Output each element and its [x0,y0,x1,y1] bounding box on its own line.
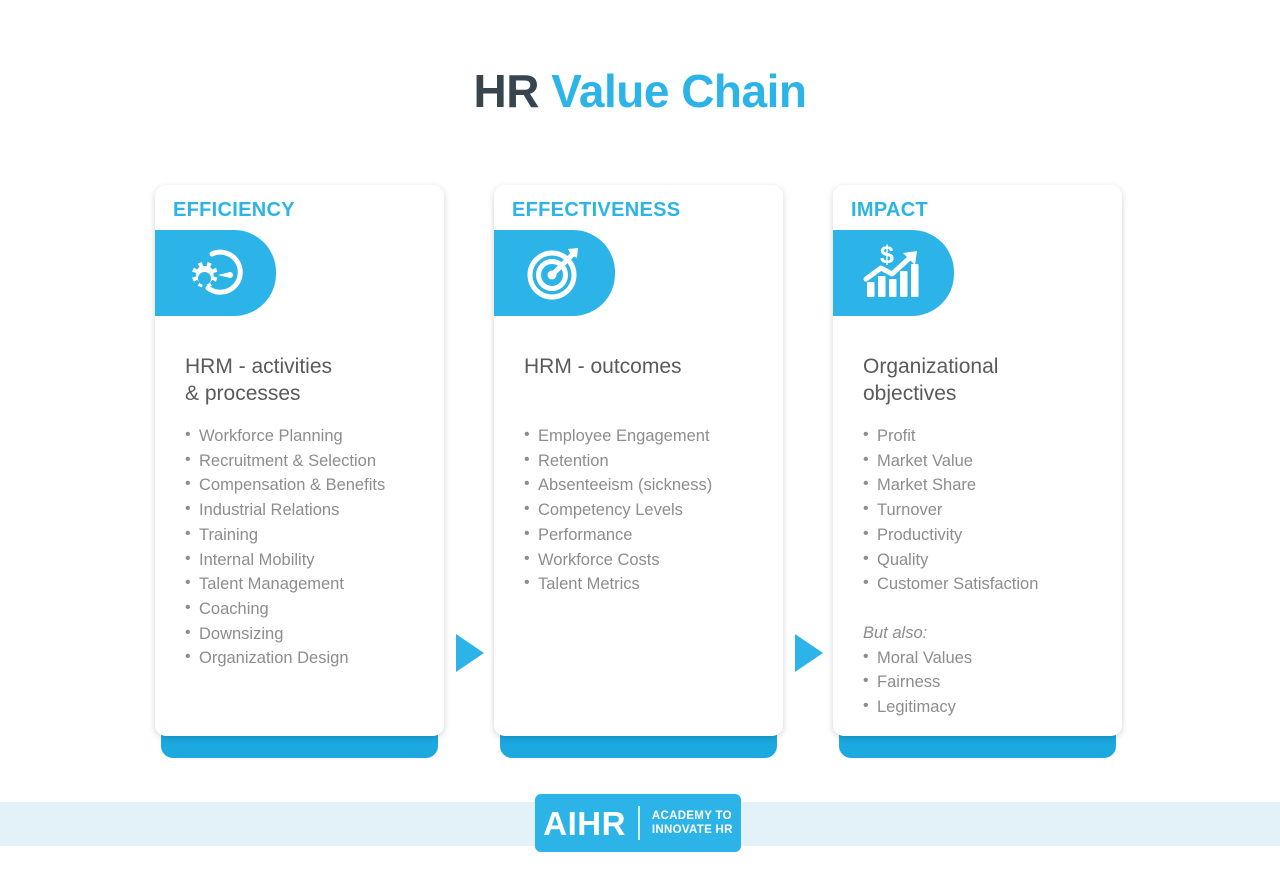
list-item: Productivity [863,523,1108,548]
card-subtitle-line-1: HRM - outcomes [524,355,682,378]
target-dart-icon [524,244,586,302]
list-item: Industrial Relations [185,498,430,523]
bullet-list: Employee Engagement Retention Absenteeis… [524,424,769,597]
value-chain-cards: EFFICIENCY HRM - activities [0,185,1280,760]
card-subtitle-line-1: Organizational [863,355,998,378]
list-item: Profit [863,424,1108,449]
card-header-label: EFFECTIVENESS [512,199,680,222]
page-title-part-2: Value Chain [551,65,806,117]
list-item: Market Share [863,473,1108,498]
list-item: Recruitment & Selection [185,449,430,474]
card-subtitle-line-1: HRM - activities [185,355,332,378]
growth-chart-dollar-icon: $ [861,244,927,302]
list-item: Turnover [863,498,1108,523]
card-subtitle: HRM - outcomes [524,353,765,380]
list-item: Performance [524,523,769,548]
logo-tagline-line-2: INNOVATE HR [652,824,733,836]
card-effectiveness: EFFECTIVENESS HRM - outcomes Employee En… [494,185,783,760]
card-body: EFFICIENCY HRM - activities [155,185,444,736]
card-header-label: IMPACT [851,199,928,222]
arrow-right-icon [456,634,484,672]
list-item: Downsizing [185,622,430,647]
list-item: Competency Levels [524,498,769,523]
icon-tab: $ [833,230,954,316]
bullet-list: Profit Market Value Market Share Turnove… [863,424,1108,720]
list-item: Quality [863,548,1108,573]
logo-tagline: ACADEMY TO INNOVATE HR [652,809,733,837]
page-title: HR Value Chain [0,64,1280,118]
icon-tab [155,230,276,316]
logo-tagline-line-1: ACADEMY TO [652,810,732,822]
list-item: Talent Management [185,572,430,597]
logo-divider [638,806,640,840]
list-item: Talent Metrics [524,572,769,597]
list-item: Coaching [185,597,430,622]
list-item: Workforce Costs [524,548,769,573]
card-impact: IMPACT $ [833,185,1122,760]
card-subtitle: Organizational objectives [863,353,1104,407]
gear-speedometer-icon [184,244,248,302]
page-title-part-1: HR [474,65,539,117]
logo-wordmark: AIHR [543,807,626,840]
arrow-right-icon [795,634,823,672]
list-item: Fairness [863,670,1108,695]
list-item: Internal Mobility [185,548,430,573]
icon-tab [494,230,615,316]
list-item: Absenteeism (sickness) [524,473,769,498]
card-efficiency: EFFICIENCY HRM - activities [155,185,444,760]
but-also-note: But also: [863,621,1108,646]
card-subtitle-line-2: & processes [185,382,301,405]
list-spacer [863,597,1108,621]
list-item: Employee Engagement [524,424,769,449]
list-item: Compensation & Benefits [185,473,430,498]
aihr-logo: AIHR ACADEMY TO INNOVATE HR [535,794,741,852]
card-header-label: EFFICIENCY [173,199,295,222]
list-item: Organization Design [185,646,430,671]
card-body: IMPACT $ [833,185,1122,736]
list-item: Moral Values [863,646,1108,671]
list-item: Legitimacy [863,695,1108,720]
card-subtitle-line-2: objectives [863,382,956,405]
card-subtitle: HRM - activities & processes [185,353,426,407]
bullet-list: Workforce Planning Recruitment & Selecti… [185,424,430,671]
list-item: Market Value [863,449,1108,474]
list-item: Retention [524,449,769,474]
card-body: EFFECTIVENESS HRM - outcomes Employee En… [494,185,783,736]
svg-text:$: $ [880,244,894,269]
list-item: Workforce Planning [185,424,430,449]
list-item: Training [185,523,430,548]
list-item: Customer Satisfaction [863,572,1108,597]
